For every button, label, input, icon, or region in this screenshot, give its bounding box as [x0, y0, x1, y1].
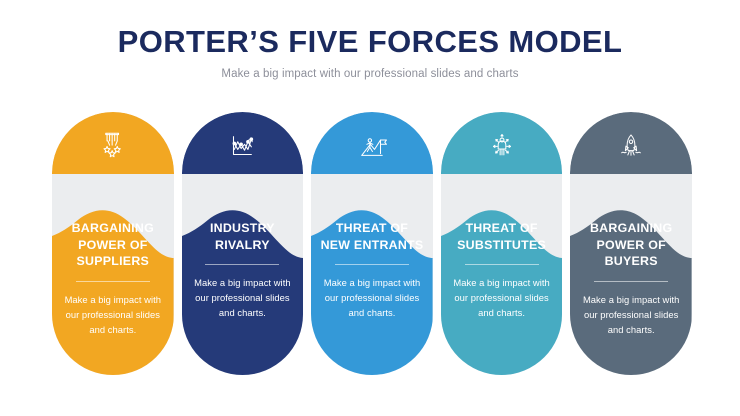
slide-canvas: PORTER’S FIVE FORCES MODEL Make a big im…: [0, 0, 740, 416]
force-card-substitutes[interactable]: THREAT OF SUBSTITUTES Make a big impact …: [441, 112, 563, 375]
card-divider: [335, 264, 409, 265]
card-text-new-entrants: THREAT OF NEW ENTRANTS Make a big impact…: [311, 192, 433, 375]
card-divider: [205, 264, 279, 265]
force-card-rivalry[interactable]: INDUSTRY RIVALRY Make a big impact with …: [182, 112, 304, 375]
person-arrows-icon: [441, 112, 563, 174]
line-chart-icon: [182, 112, 304, 174]
card-body: Make a big impact with our professional …: [579, 292, 683, 338]
card-body: Make a big impact with our professional …: [450, 275, 554, 321]
card-divider: [594, 281, 668, 282]
card-text-buyers: BARGAINING POWER OF BUYERS Make a big im…: [570, 192, 692, 375]
card-text-suppliers: BARGAINING POWER OF SUPPLIERS Make a big…: [52, 192, 174, 375]
card-title: BARGAINING POWER OF BUYERS: [579, 220, 683, 270]
card-divider: [76, 281, 150, 282]
card-text-rivalry: INDUSTRY RIVALRY Make a big impact with …: [182, 192, 304, 375]
card-body: Make a big impact with our professional …: [320, 275, 424, 321]
forces-columns: BARGAINING POWER OF SUPPLIERS Make a big…: [52, 112, 692, 375]
force-card-suppliers[interactable]: BARGAINING POWER OF SUPPLIERS Make a big…: [52, 112, 174, 375]
force-card-new-entrants[interactable]: THREAT OF NEW ENTRANTS Make a big impact…: [311, 112, 433, 375]
page-title: PORTER’S FIVE FORCES MODEL: [0, 26, 740, 59]
card-divider: [465, 264, 539, 265]
mountain-climber-flag-icon: [311, 112, 433, 174]
card-title: THREAT OF NEW ENTRANTS: [320, 220, 424, 253]
card-title: THREAT OF SUBSTITUTES: [450, 220, 554, 253]
card-title: BARGAINING POWER OF SUPPLIERS: [61, 220, 165, 270]
force-card-buyers[interactable]: BARGAINING POWER OF BUYERS Make a big im…: [570, 112, 692, 375]
card-body: Make a big impact with our professional …: [191, 275, 295, 321]
card-body: Make a big impact with our professional …: [61, 292, 165, 338]
card-title: INDUSTRY RIVALRY: [191, 220, 295, 253]
rocket-icon: [570, 112, 692, 174]
header: PORTER’S FIVE FORCES MODEL Make a big im…: [0, 26, 740, 80]
page-subtitle: Make a big impact with our professional …: [0, 68, 740, 80]
medals-icon: [52, 112, 174, 174]
card-text-substitutes: THREAT OF SUBSTITUTES Make a big impact …: [441, 192, 563, 375]
